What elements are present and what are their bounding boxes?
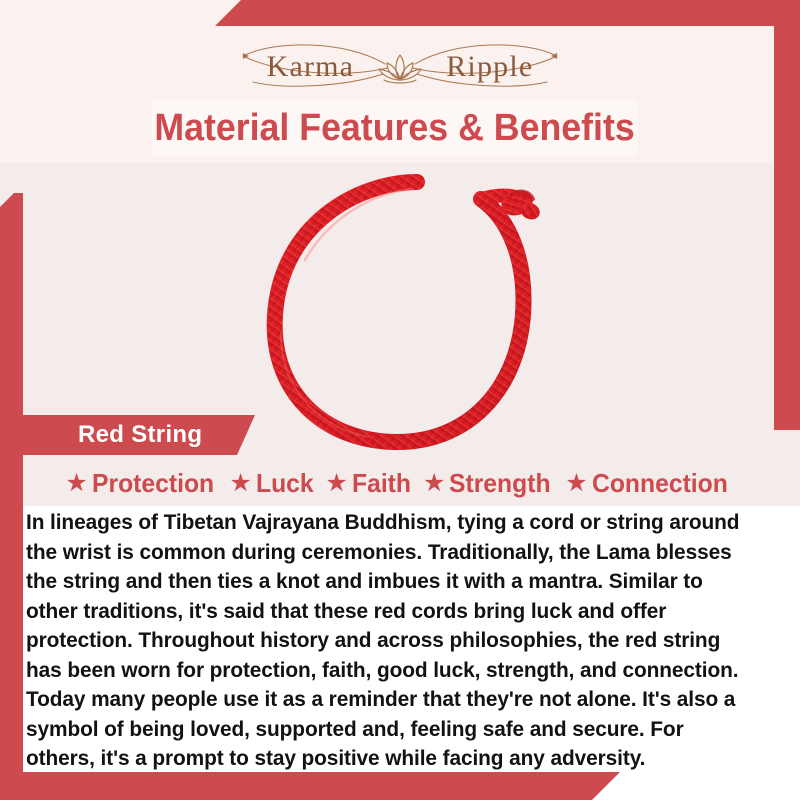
star-icon: ★	[325, 471, 347, 496]
star-icon: ★	[65, 471, 87, 496]
lotus-icon	[374, 47, 426, 87]
benefit-label: Protection	[92, 468, 214, 499]
benefit-item-protection: ★ Protection	[65, 468, 220, 499]
decor-bar-left	[0, 193, 23, 800]
benefit-label: Strength	[449, 468, 551, 499]
star-icon: ★	[229, 471, 251, 496]
brand-name-right: Ripple	[446, 52, 533, 82]
page-title: Material Features & Benefits	[155, 107, 635, 150]
description-paragraph: In lineages of Tibetan Vajrayana Buddhis…	[26, 508, 755, 774]
description-panel: In lineages of Tibetan Vajrayana Buddhis…	[26, 508, 778, 770]
benefit-label: Connection	[592, 468, 728, 499]
star-icon: ★	[423, 471, 445, 496]
benefit-label: Faith	[352, 468, 411, 499]
product-name-ribbon: Red String	[20, 415, 255, 455]
star-icon: ★	[565, 471, 587, 496]
product-image	[245, 165, 575, 465]
decor-bar-bottom-left	[0, 772, 620, 800]
product-name-label: Red String	[78, 421, 202, 449]
benefits-list: ★ Protection ★ Luck ★ Faith ★ Strength ★…	[22, 463, 778, 503]
benefit-item-strength: ★ Strength	[423, 468, 556, 499]
title-banner: Material Features & Benefits	[152, 100, 638, 156]
benefit-label: Luck	[256, 468, 314, 499]
benefit-item-faith: ★ Faith	[325, 468, 414, 499]
decor-bar-top-right	[215, 0, 800, 26]
brand-logo: Karma Ripple	[0, 38, 800, 96]
brand-name-left: Karma	[267, 52, 355, 82]
benefit-item-luck: ★ Luck	[229, 468, 316, 499]
red-string-bracelet-icon	[245, 165, 575, 465]
benefit-item-connection: ★ Connection	[565, 468, 734, 499]
infographic-page: Karma Ripple Material Features & Benefit…	[0, 0, 800, 800]
